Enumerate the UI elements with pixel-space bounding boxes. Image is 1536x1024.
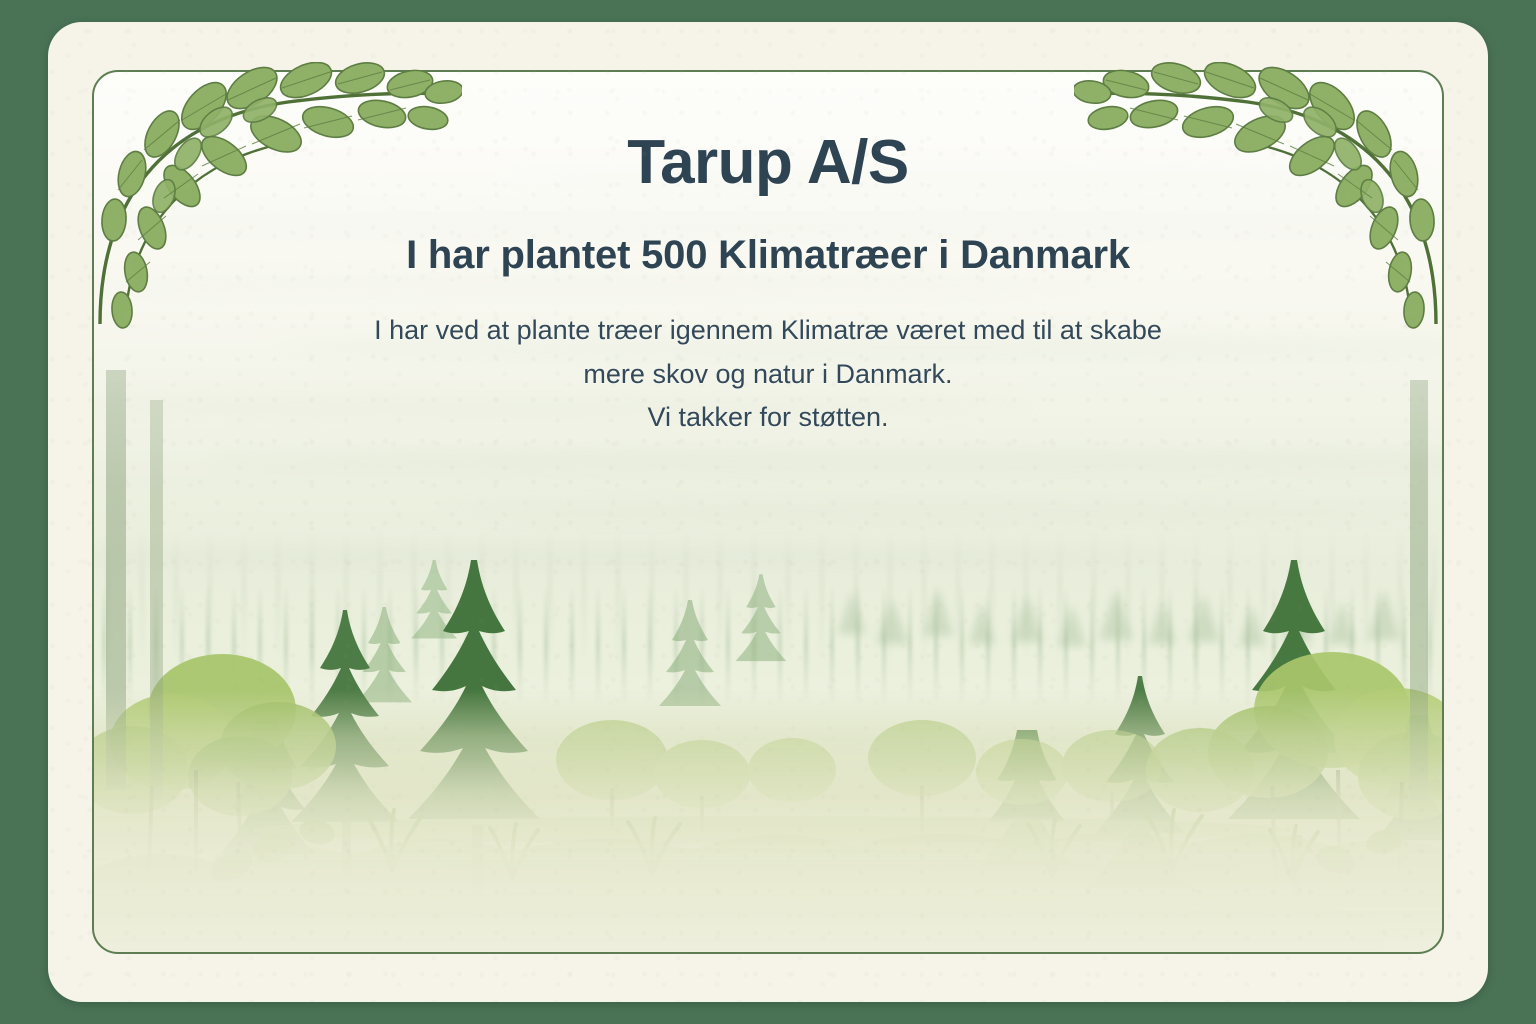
page-title: Tarup A/S [198, 130, 1338, 197]
certificate-subtitle: I har plantet 500 Klimatræer i Danmark [198, 231, 1338, 279]
distant-conifers [838, 586, 1401, 646]
certificate-card: Tarup A/S I har plantet 500 Klimatræer i… [48, 22, 1488, 1002]
body-line-1: I har ved at plante træer igennem Klimat… [198, 309, 1338, 353]
certificate-body: I har ved at plante træer igennem Klimat… [198, 309, 1338, 440]
meadow-wash [92, 689, 1444, 954]
certificate-text-block: Tarup A/S I har plantet 500 Klimatræer i… [48, 130, 1488, 440]
body-line-3: Vi takker for støtten. [198, 396, 1338, 440]
body-line-2: mere skov og natur i Danmark. [198, 353, 1338, 397]
midground-conifers [356, 560, 786, 706]
